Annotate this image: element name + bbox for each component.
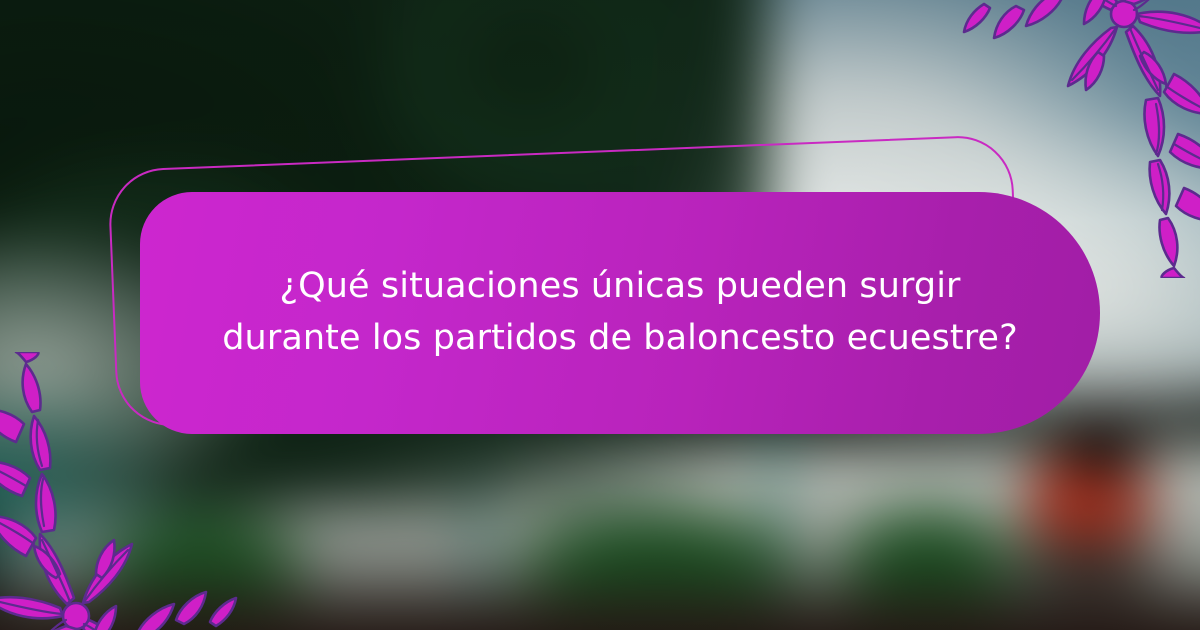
headline-text: ¿Qué situaciones únicas pueden surgir du… bbox=[140, 261, 1100, 365]
headline-card: ¿Qué situaciones únicas pueden surgir du… bbox=[140, 192, 1100, 434]
share-card-canvas: ¿Qué situaciones únicas pueden surgir du… bbox=[0, 0, 1200, 630]
